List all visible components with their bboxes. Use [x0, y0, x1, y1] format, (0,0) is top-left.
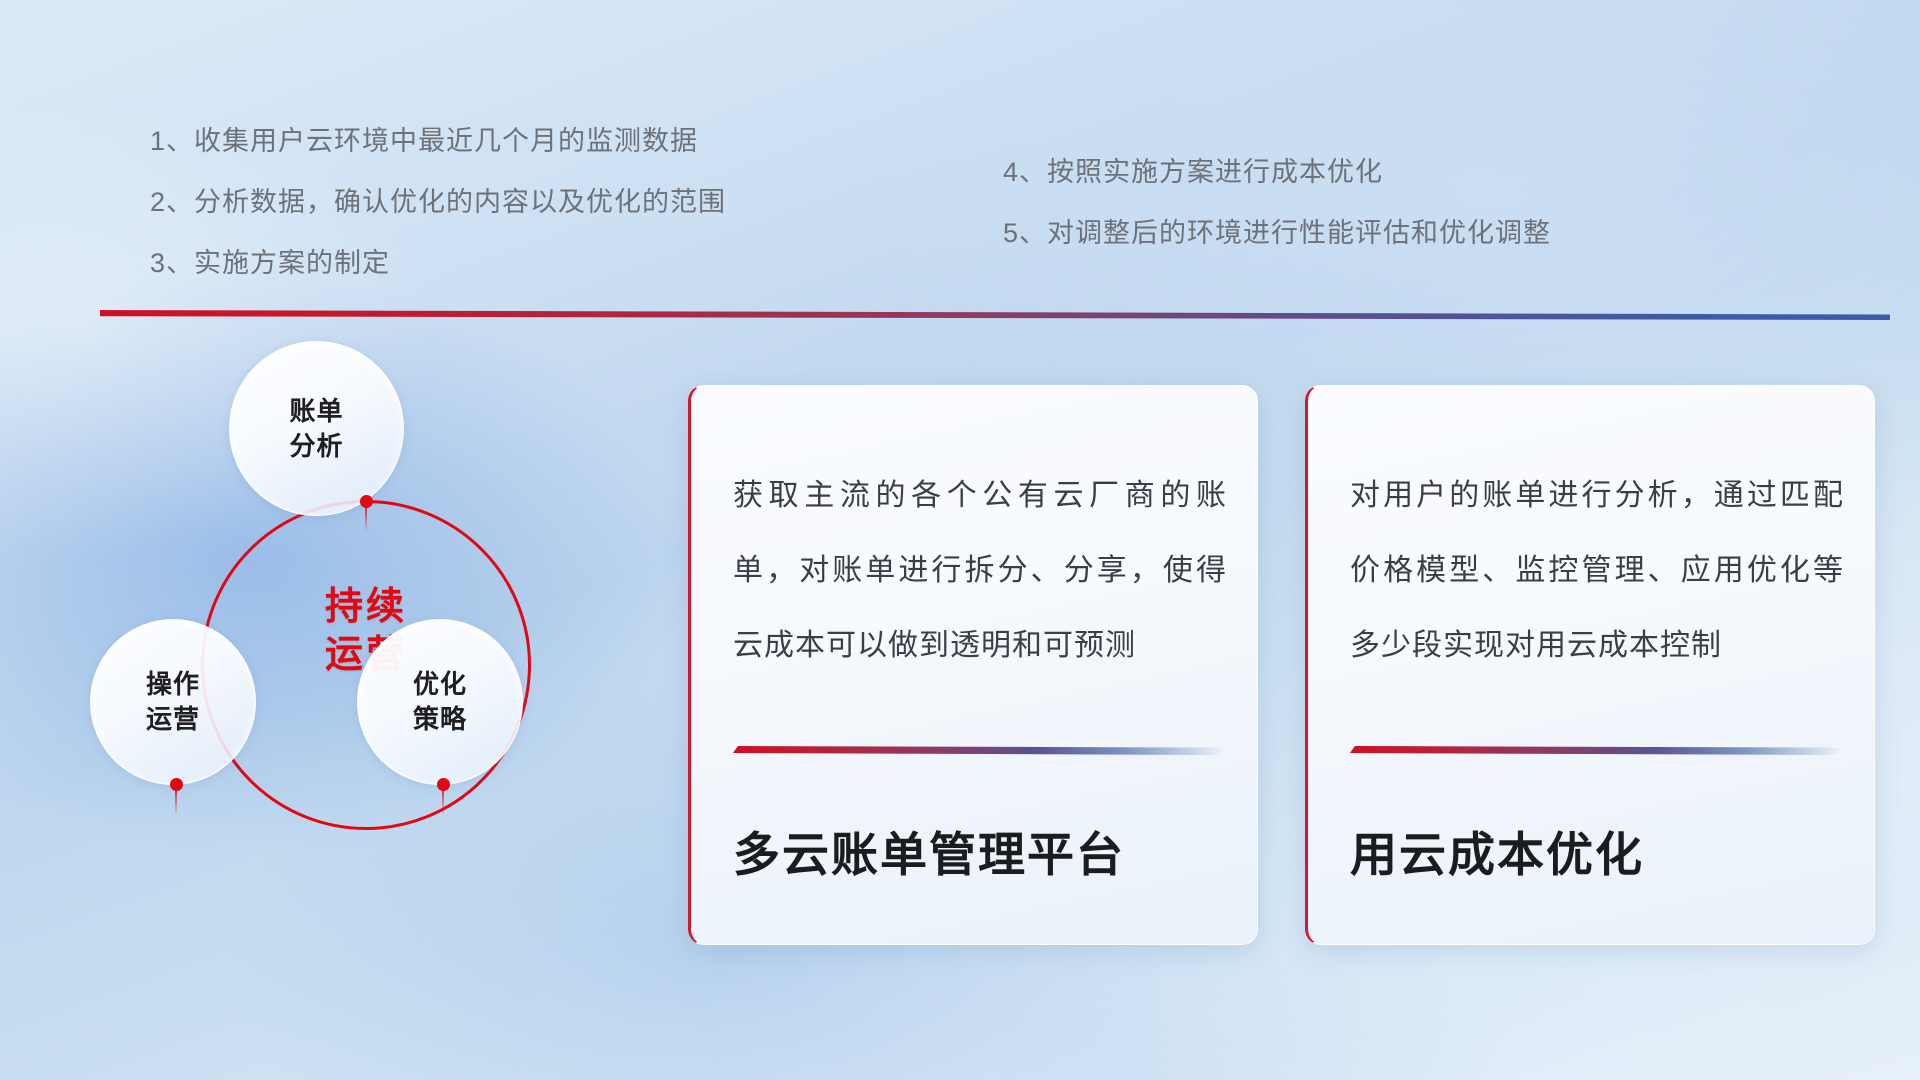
card-2-body: 对用户的账单进行分析，通过匹配价格模型、监控管理、应用优化等多少段实现对用云成本… [1350, 458, 1844, 683]
diagram-marker-tail-left [175, 789, 177, 815]
card-2-divider [1350, 746, 1840, 755]
steps-list: 1、收集用户云环境中最近几个月的监测数据 2、分析数据，确认优化的内容以及优化的… [0, 0, 1920, 270]
step-item-3: 3、实施方案的制定 [150, 241, 390, 280]
card-1-title: 多云账单管理平台 [733, 816, 1125, 885]
node-top-label-line1: 账单 [289, 394, 343, 429]
step-item-1: 1、收集用户云环境中最近几个月的监测数据 [150, 119, 698, 158]
step-item-4: 4、按照实施方案进行成本优化 [1003, 150, 1383, 189]
diagram-node-operations[interactable]: 操作 运营 [90, 619, 256, 785]
step-item-5: 5、对调整后的环境进行性能评估和优化调整 [1003, 211, 1551, 250]
diagram-node-optimization-strategy[interactable]: 优化 策略 [357, 619, 523, 785]
diagram-marker-dot-top [360, 495, 373, 508]
node-right-label-line1: 优化 [413, 667, 467, 702]
diagram-marker-tail-right [442, 789, 444, 815]
node-left-label-line2: 运营 [146, 702, 200, 737]
section-divider-bar [100, 310, 1890, 320]
step-item-2: 2、分析数据，确认优化的内容以及优化的范围 [150, 180, 726, 219]
card-2-title: 用云成本优化 [1350, 816, 1644, 885]
feature-card-cost-optimization[interactable]: 对用户的账单进行分析，通过匹配价格模型、监控管理、应用优化等多少段实现对用云成本… [1305, 385, 1875, 945]
cycle-diagram: 持续 运营 账单 分析 操作 运营 优化 策略 [95, 355, 640, 935]
diagram-node-billing-analysis[interactable]: 账单 分析 [229, 341, 404, 516]
card-1-body: 获取主流的各个公有云厂商的账单，对账单进行拆分、分享，使得云成本可以做到透明和可… [733, 458, 1227, 683]
card-1-divider [733, 746, 1223, 755]
node-top-label-line2: 分析 [289, 429, 343, 464]
diagram-marker-dot-left [170, 778, 183, 791]
diagram-marker-dot-right [437, 778, 450, 791]
diagram-center-label-line1: 持续 [201, 583, 531, 631]
section-divider [100, 310, 1890, 320]
node-left-label-line1: 操作 [146, 667, 200, 702]
node-right-label-line2: 策略 [413, 702, 467, 737]
feature-card-multicloud-billing[interactable]: 获取主流的各个公有云厂商的账单，对账单进行拆分、分享，使得云成本可以做到透明和可… [688, 385, 1258, 945]
diagram-marker-tail-top [365, 506, 367, 532]
